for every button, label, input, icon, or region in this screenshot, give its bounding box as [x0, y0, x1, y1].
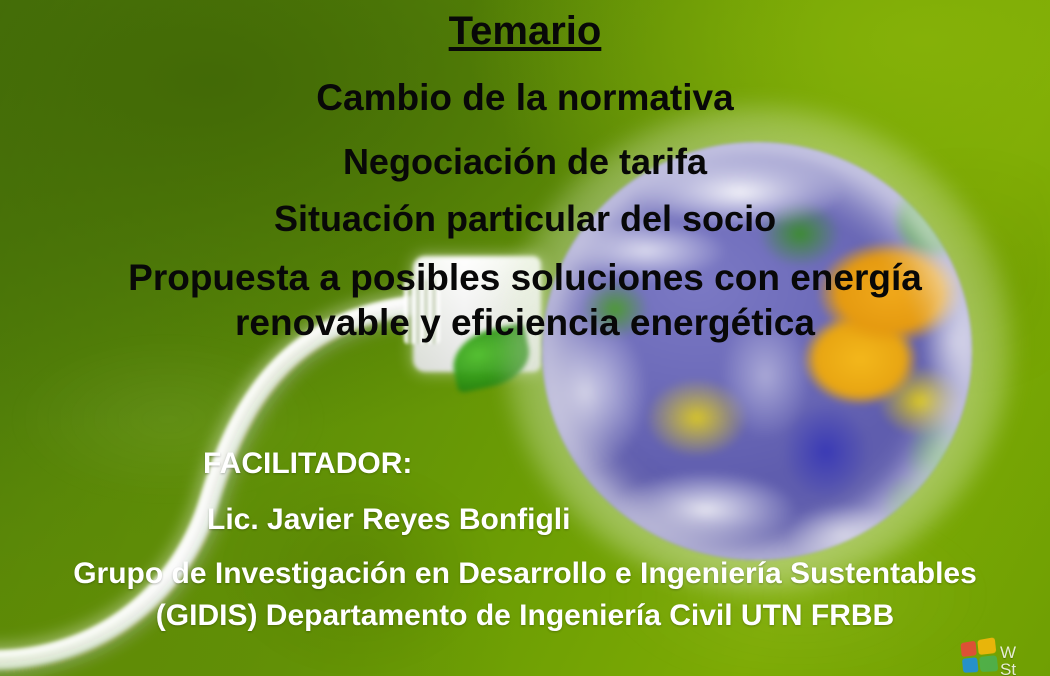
- presentation-slide: Temario Cambio de la normativa Negociaci…: [0, 0, 1050, 676]
- slide-title: Temario: [0, 10, 1050, 52]
- organization-line-2: (GIDIS) Departamento de Ingeniería Civil…: [0, 600, 1050, 632]
- windows-flag-icon: [960, 637, 1000, 675]
- windows-flag-quadrant-green: [979, 655, 998, 672]
- watermark-text-line-1: W: [1000, 644, 1016, 661]
- topic-item-2: Negociación de tarifa: [0, 143, 1050, 181]
- topic-item-3: Situación particular del socio: [0, 200, 1050, 238]
- facilitator-label: FACILITADOR:: [0, 448, 1050, 480]
- topic-item-4-line-2: renovable y eficiencia energética: [0, 303, 1050, 342]
- windows-flag-quadrant-red: [960, 641, 976, 657]
- watermark-text: W St: [1000, 644, 1016, 676]
- watermark-text-line-2: St: [1000, 661, 1016, 676]
- earth-globe-image: [530, 132, 986, 564]
- presenter-name: Lic. Javier Reyes Bonfigli: [0, 504, 1050, 536]
- topic-item-4-line-1: Propuesta a posibles soluciones con ener…: [0, 258, 1050, 297]
- topic-item-1: Cambio de la normativa: [0, 78, 1050, 117]
- windows-flag-quadrant-yellow: [977, 637, 996, 655]
- windows-flag-quadrant-blue: [962, 657, 979, 673]
- organization-line-1: Grupo de Investigación en Desarrollo e I…: [0, 558, 1050, 590]
- windows-watermark: W St: [958, 628, 1050, 676]
